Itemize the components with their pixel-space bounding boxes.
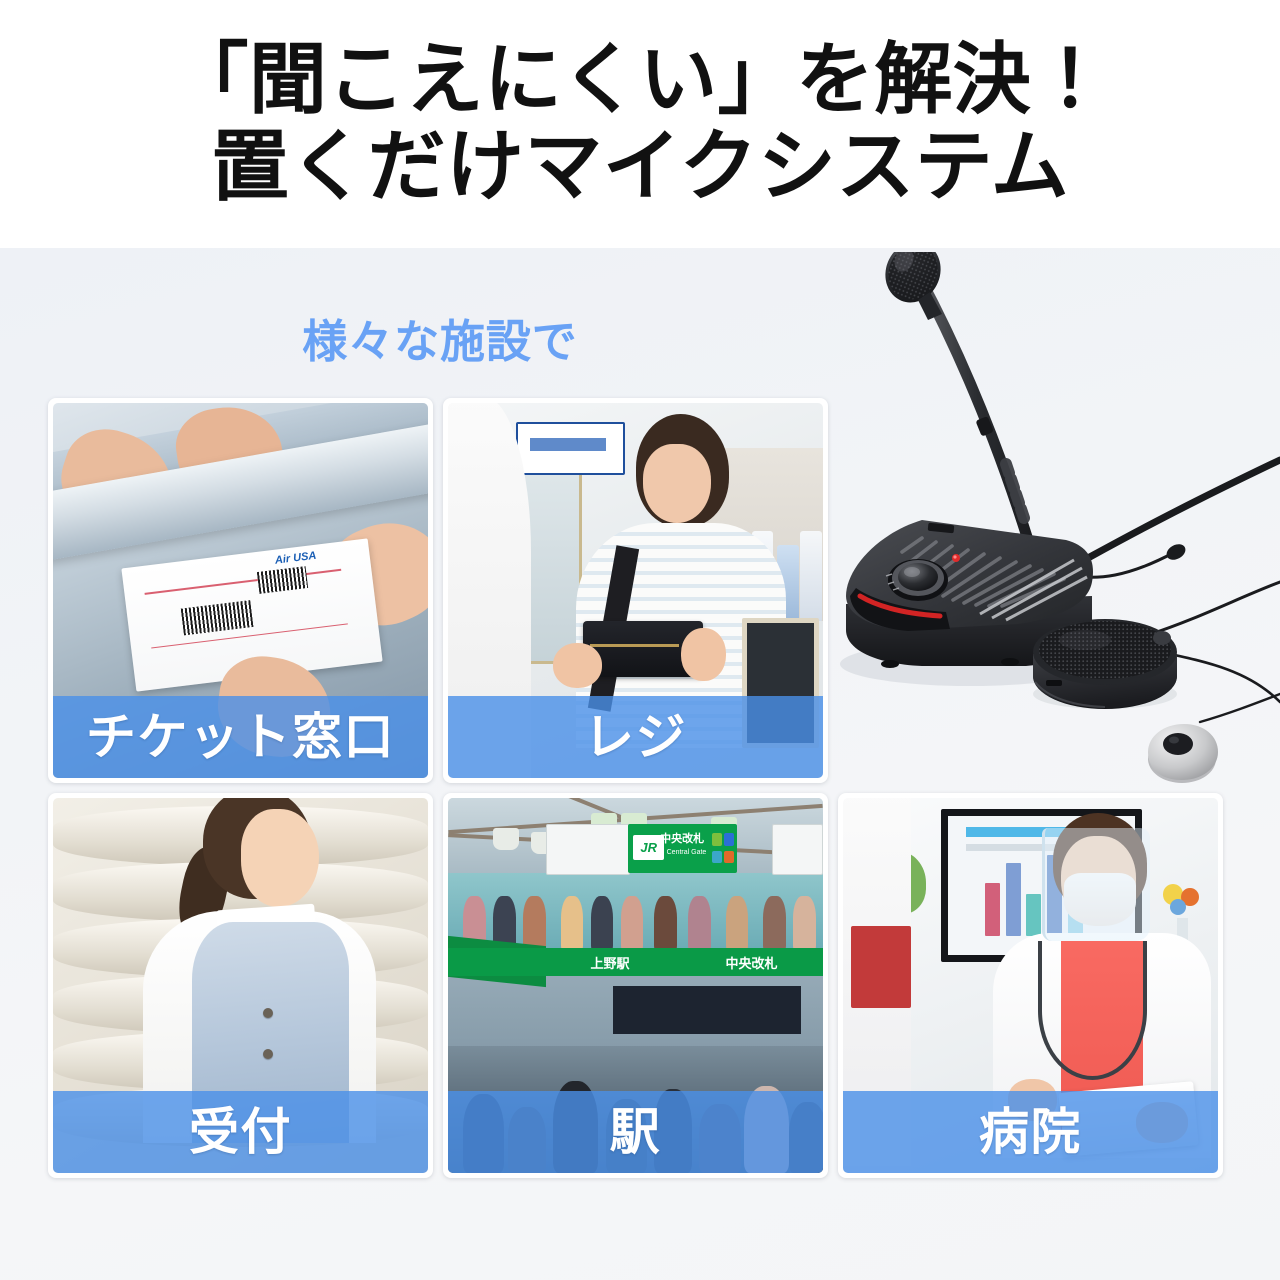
headline-line-1: 「聞こえにくい」を解決！ bbox=[170, 37, 1109, 124]
tile-caption-text: レジ bbox=[584, 712, 687, 762]
tile-caption-band: 駅 bbox=[448, 1091, 823, 1173]
tile-caption-text: 病院 bbox=[979, 1107, 1082, 1157]
stethoscope bbox=[1038, 941, 1147, 1080]
tile-caption-band: チケット窓口 bbox=[53, 696, 428, 778]
product-photo-microphone-system bbox=[830, 252, 1280, 812]
tile-caption-text: 駅 bbox=[610, 1107, 662, 1157]
face-shield bbox=[1042, 828, 1150, 941]
store-sign bbox=[516, 422, 625, 475]
volume-knob bbox=[888, 559, 948, 601]
photo-train-station: JR 中央改札 Central Gate 上野駅 中央改札 bbox=[448, 798, 823, 1173]
station-sign-coin-lockers bbox=[772, 824, 823, 875]
tile-caption-band: 受付 bbox=[53, 1091, 428, 1173]
photo-cash-register: レジ bbox=[448, 403, 823, 778]
tile-row-bottom: 受付 bbox=[48, 793, 1224, 1178]
photo-ticket-counter: Air USA チケット窓口 bbox=[53, 403, 428, 778]
gate-banner: 上野駅 中央改札 bbox=[448, 948, 823, 976]
facility-tile-hospital[interactable]: 病院 bbox=[838, 793, 1223, 1178]
station-sign-plaza bbox=[546, 824, 631, 875]
customer-face bbox=[643, 444, 711, 523]
section-label: 様々な施設で bbox=[60, 305, 820, 370]
hand-icon bbox=[681, 628, 726, 681]
headline-line-2: 置くだけマイクシステム bbox=[211, 124, 1069, 211]
facility-tile-train-station[interactable]: JR 中央改札 Central Gate 上野駅 中央改札 bbox=[443, 793, 828, 1178]
microphone-head bbox=[876, 252, 949, 320]
headline-banner: 「聞こえにくい」を解決！ 置くだけマイクシステム bbox=[0, 0, 1280, 248]
facility-tile-reception[interactable]: 受付 bbox=[48, 793, 433, 1178]
photo-hospital: 病院 bbox=[843, 798, 1218, 1173]
facility-tile-ticket-counter[interactable]: Air USA チケット窓口 bbox=[48, 398, 433, 783]
advertisement-page: 「聞こえにくい」を解決！ 置くだけマイクシステム 様々な施設で Air USA bbox=[0, 0, 1280, 1280]
tile-caption-text: 受付 bbox=[189, 1107, 292, 1157]
departure-board bbox=[613, 986, 801, 1035]
hand-icon bbox=[553, 643, 602, 688]
photo-reception: 受付 bbox=[53, 798, 428, 1173]
tile-caption-band: レジ bbox=[448, 696, 823, 778]
clipboard bbox=[851, 926, 911, 1009]
tile-caption-band: 病院 bbox=[843, 1091, 1218, 1173]
puck-speaker bbox=[1033, 619, 1177, 709]
tile-caption-text: チケット窓口 bbox=[86, 712, 395, 762]
earpiece bbox=[1148, 724, 1218, 783]
facility-tile-cash-register[interactable]: レジ bbox=[443, 398, 828, 783]
station-sign-central-gate: JR 中央改札 Central Gate bbox=[628, 824, 737, 873]
